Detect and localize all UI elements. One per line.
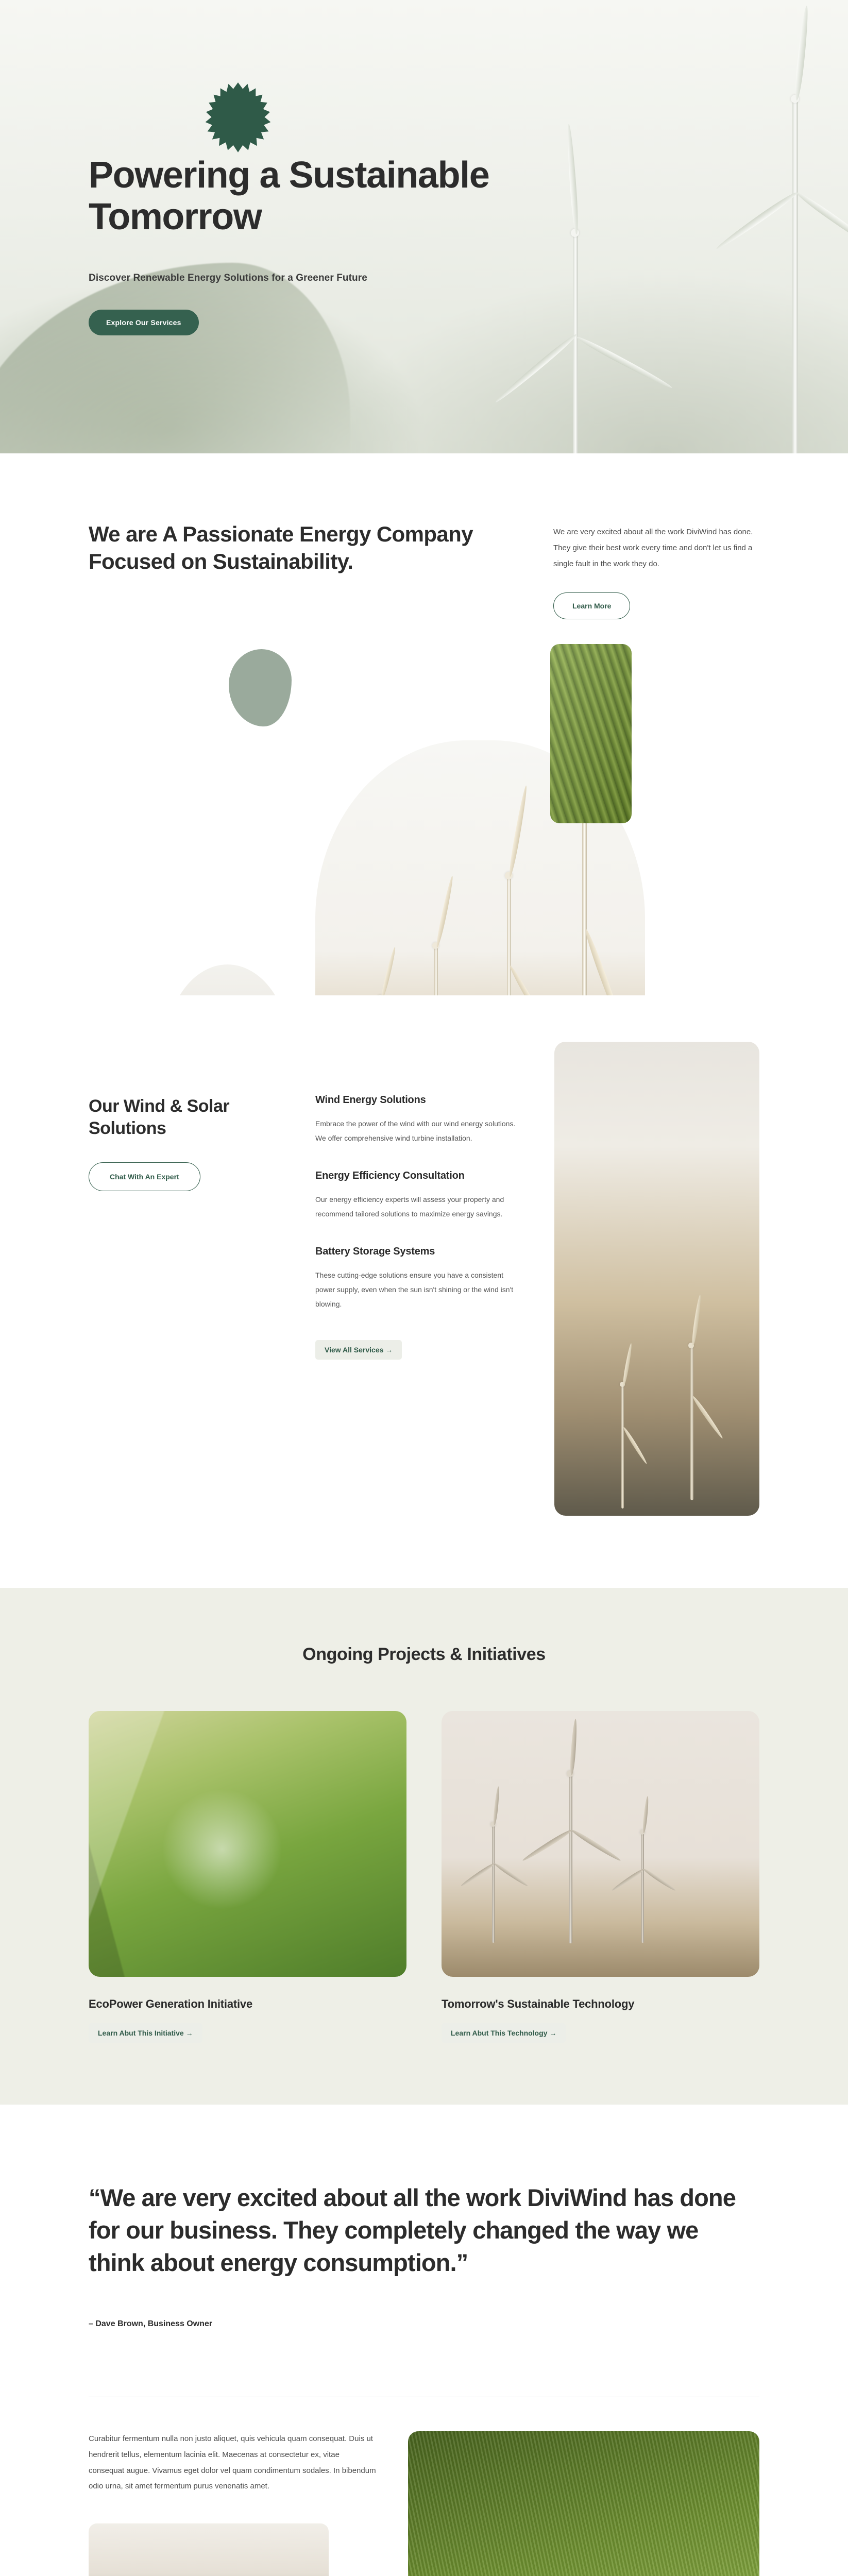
story-paragraph: Curabitur fermentum nulla non justo aliq… <box>89 2431 377 2495</box>
testimonial-author: – Dave Brown, Business Owner <box>89 2319 759 2329</box>
story-text-column: Curabitur fermentum nulla non justo aliq… <box>89 2431 377 2576</box>
story-section: Curabitur fermentum nulla non justo aliq… <box>0 2397 848 2576</box>
projects-section: Ongoing Projects & Initiatives EcoPower … <box>0 1588 848 2105</box>
service-body: Embrace the power of the wind with our w… <box>315 1116 516 1145</box>
project-card[interactable]: Tomorrow's Sustainable Technology Learn … <box>442 1711 759 2043</box>
chat-with-an-expert-button[interactable]: Chat With An Expert <box>89 1162 200 1191</box>
service-body: These cutting-edge solutions ensure you … <box>315 1268 516 1311</box>
project-title: EcoPower Generation Initiative <box>89 1997 406 2011</box>
about-image-collage <box>89 624 759 995</box>
service-item[interactable]: Energy Efficiency Consultation Our energ… <box>315 1169 516 1221</box>
about-section: We are A Passionate Energy Company Focus… <box>0 453 848 995</box>
project-card[interactable]: EcoPower Generation Initiative Learn Abu… <box>89 1711 406 2043</box>
page-title: Powering a Sustainable Tomorrow <box>89 155 666 239</box>
projects-heading: Ongoing Projects & Initiatives <box>89 1645 759 1665</box>
view-all-services-button[interactable]: View All Services → <box>315 1340 402 1360</box>
project-title: Tomorrow's Sustainable Technology <box>442 1997 759 2011</box>
hero-section: Powering a Sustainable Tomorrow Discover… <box>0 0 848 453</box>
sage-blob-shape <box>229 649 292 726</box>
project-image-ecopower <box>89 1711 406 1977</box>
about-aside: We are very excited about all the work D… <box>553 520 759 619</box>
service-title: Wind Energy Solutions <box>315 1093 516 1107</box>
service-body: Our energy efficiency experts will asses… <box>315 1192 516 1221</box>
service-item[interactable]: Battery Storage Systems These cutting-ed… <box>315 1245 516 1311</box>
learn-about-technology-button[interactable]: Learn Abut This Technology → <box>442 2023 566 2043</box>
services-side-photo <box>554 1042 759 1516</box>
service-title: Battery Storage Systems <box>315 1245 516 1259</box>
grass-strip-photo <box>550 644 632 823</box>
learn-more-button[interactable]: Learn More <box>553 592 630 619</box>
testimonial-quote: “We are very excited about all the work … <box>89 2182 758 2279</box>
testimonial-section: “We are very excited about all the work … <box>0 2105 848 2365</box>
about-paragraph: We are very excited about all the work D… <box>553 524 759 572</box>
grass-field-photo: Vivamus magna justo, lacinia eget consec… <box>408 2431 759 2576</box>
project-image-technology <box>442 1711 759 1977</box>
services-title: Our Wind & Solar Solutions <box>89 1095 295 1140</box>
service-title: Energy Efficiency Consultation <box>315 1169 516 1183</box>
service-item[interactable]: Wind Energy Solutions Embrace the power … <box>315 1093 516 1145</box>
landing-page: Powering a Sustainable Tomorrow Discover… <box>0 0 848 2576</box>
mountain-mini-photo <box>89 2523 329 2576</box>
explore-our-services-button[interactable]: Explore Our Services <box>89 310 199 335</box>
story-photo-column: Vivamus magna justo, lacinia eget consec… <box>408 2431 759 2576</box>
learn-about-initiative-button[interactable]: Learn Abut This Initiative → <box>89 2023 202 2043</box>
hero-subtitle: Discover Renewable Energy Solutions for … <box>89 273 848 284</box>
services-section: Our Wind & Solar Solutions Chat With An … <box>0 995 848 1588</box>
services-accordion: Wind Energy Solutions Embrace the power … <box>315 1042 516 1360</box>
about-heading: We are A Passionate Energy Company Focus… <box>89 520 480 575</box>
services-intro: Our Wind & Solar Solutions Chat With An … <box>89 1042 295 1191</box>
